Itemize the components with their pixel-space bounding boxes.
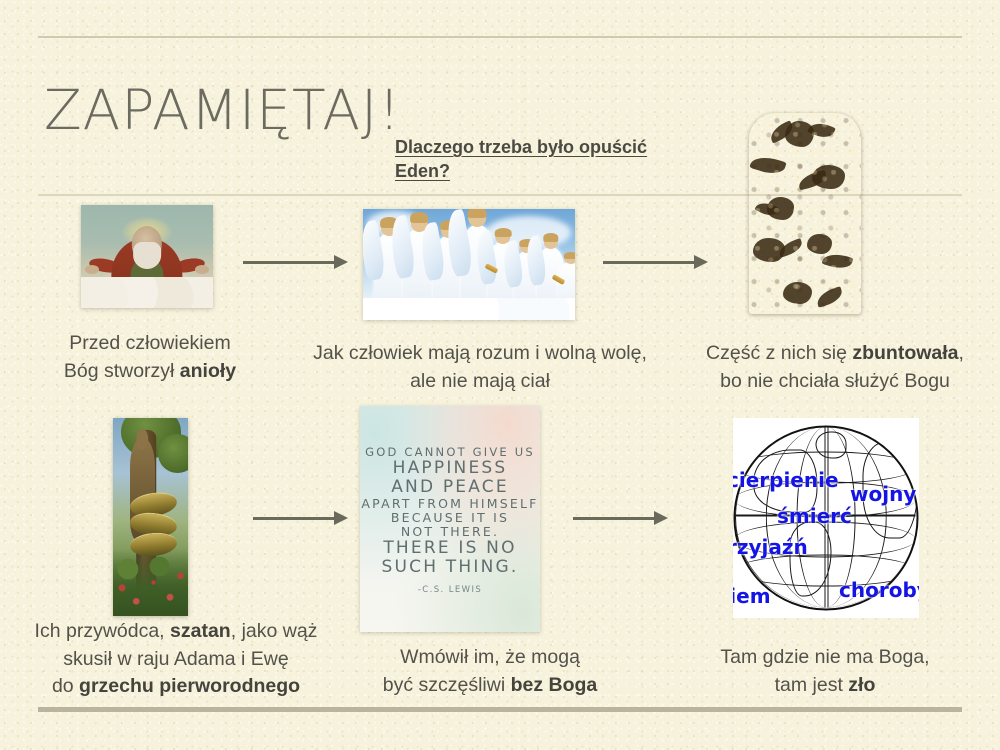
angel-hair: [564, 252, 575, 259]
caption-emphasis: zbuntowała: [852, 342, 958, 364]
caption-emphasis: bez Boga: [511, 674, 598, 696]
flower-bush: [113, 549, 188, 616]
caption-happy-without-god: Wmówił im, że mogą być szczęśliwi bez Bo…: [340, 644, 640, 699]
caption-line: ,: [959, 342, 964, 364]
god-right-hand: [195, 265, 210, 274]
arrow-shaft: [253, 517, 335, 520]
caption-line: Część z nich się: [706, 342, 852, 364]
angel-hair: [468, 209, 487, 218]
tree-foliage: [158, 434, 188, 474]
arrow-shaft: [603, 261, 695, 264]
quote-line: BECAUSE IT IS: [391, 511, 509, 525]
quote-line: NOT THERE.: [401, 525, 499, 539]
caption-line: ale nie mają ciał: [410, 370, 550, 392]
caption-reason-and-free-will: Jak człowiek mają rozum i wolną wolę, al…: [285, 340, 675, 395]
caption-line: Tam gdzie nie ma Boga,: [720, 646, 929, 668]
angel-cloudbank: [363, 298, 575, 320]
arrow-4: [573, 511, 668, 525]
caption-line: tam jest: [775, 674, 849, 696]
image-serpent-tree: [113, 418, 188, 616]
arrow-head: [694, 255, 708, 269]
image-angels: [363, 209, 575, 320]
image-god-the-father: [81, 205, 213, 308]
fresco-texture: [749, 113, 861, 314]
caption-line: Jak człowiek mają rozum i wolną wolę,: [313, 342, 647, 364]
slide-canvas: ZAPAMIĘTAJ! Dlaczego trzeba było opuścić…: [0, 0, 1000, 750]
god-clouds: [81, 277, 213, 308]
caption-line: być szczęśliwi: [383, 674, 511, 696]
globe-word-bogiem: Bogiem: [733, 584, 771, 608]
caption-emphasis: grzechu pierworodnego: [79, 675, 300, 697]
arrow-head: [654, 511, 668, 525]
quote-line: HAPPINESS: [393, 459, 508, 478]
caption-emphasis: szatan: [170, 620, 231, 642]
divider-top: [38, 36, 962, 38]
image-fallen-angels-fresco: [749, 113, 861, 314]
caption-line: Przed człowiekiem: [69, 332, 230, 354]
quote-line: SUCH THING.: [382, 558, 519, 577]
continent-greenland: [815, 431, 846, 458]
arrow-1: [243, 255, 348, 269]
figure-head: [136, 429, 148, 450]
quote-line: THERE IS NO: [383, 539, 516, 558]
globe-word-cierpienie: cierpienie: [733, 468, 839, 492]
caption-line: , jako wąż: [231, 620, 318, 642]
slide-subtitle-question: Dlaczego trzeba było opuścić Eden?: [395, 136, 705, 184]
angel-hair: [495, 228, 512, 237]
divider-bottom: [38, 707, 962, 712]
quote-line: APART FROM HIMSELF: [361, 497, 538, 511]
caption-line: Wmówił im, że mogą: [400, 646, 580, 668]
arrow-2: [603, 255, 708, 269]
angel-hair: [410, 212, 428, 223]
caption-emphasis: zło: [848, 674, 875, 696]
arrow-shaft: [243, 261, 335, 264]
globe-word-nieprzyjazn: nieprzyjaźń: [733, 535, 808, 559]
caption-line: bo nie chciała służyć Bogu: [720, 370, 950, 392]
arrow-head: [334, 511, 348, 525]
god-left-hand: [85, 265, 100, 274]
image-cs-lewis-quote-poster: GOD CANNOT GIVE US HAPPINESS AND PEACE A…: [360, 406, 540, 632]
caption-rebellion: Część z nich się zbuntowała, bo nie chci…: [680, 340, 990, 395]
globe-word-wojny: wojny: [850, 482, 916, 506]
angel-hair: [543, 233, 558, 242]
caption-line: Bóg stworzył: [64, 360, 180, 382]
arrow-3: [253, 511, 348, 525]
caption-line: Ich przywódca,: [35, 620, 170, 642]
globe-word-choroby: choroby: [839, 578, 919, 602]
caption-line: do: [52, 675, 79, 697]
image-globe-with-evils: cierpienie wojny śmierć nieprzyjaźń z Bo…: [733, 418, 919, 618]
quote-author: -C.S. LEWIS: [418, 586, 482, 596]
caption-line: skusił w raju Adama i Ewę: [63, 648, 288, 670]
page-title: ZAPAMIĘTAJ!: [44, 83, 401, 138]
quote-line: AND PEACE: [391, 478, 509, 497]
caption-angels-created: Przed człowiekiem Bóg stworzył anioły: [35, 330, 265, 385]
arrow-head: [334, 255, 348, 269]
arrow-shaft: [573, 517, 655, 520]
god-beard: [133, 242, 161, 269]
caption-emphasis: anioły: [180, 360, 236, 382]
globe-word-smierc: śmierć: [777, 504, 852, 528]
caption-original-sin: Ich przywódca, szatan, jako wąż skusił w…: [12, 618, 340, 701]
caption-evil-without-god: Tam gdzie nie ma Boga, tam jest zło: [670, 644, 980, 699]
